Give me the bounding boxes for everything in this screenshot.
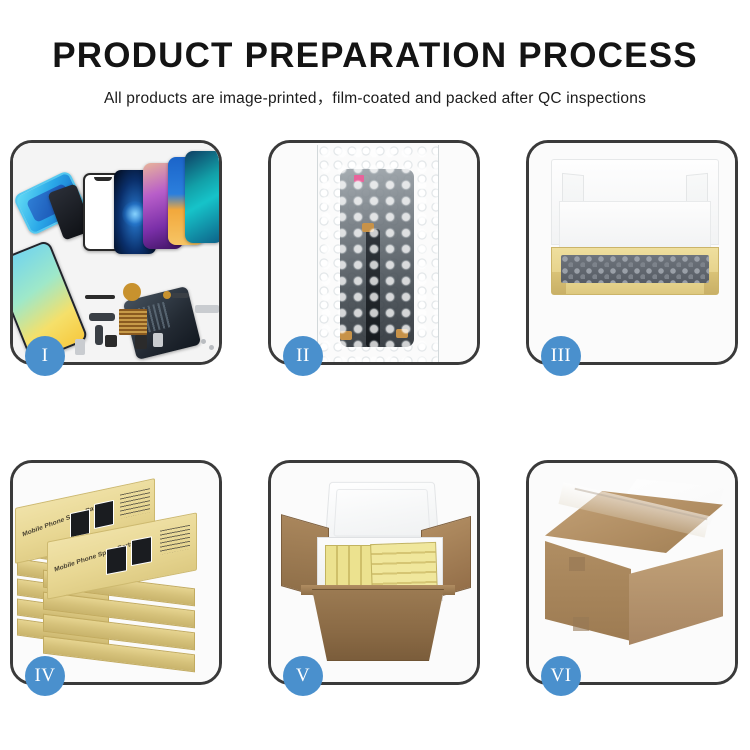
speaker-module-part bbox=[135, 335, 147, 349]
step-badge-3: III bbox=[541, 336, 581, 376]
step-2-image bbox=[271, 143, 477, 362]
box-window-front-2 bbox=[131, 536, 152, 566]
bubble-wrap-bag-image bbox=[317, 145, 439, 362]
bubble-wrap-scene bbox=[271, 143, 477, 362]
ic-chip-grid-part bbox=[119, 309, 147, 335]
screw-part-2 bbox=[209, 345, 214, 350]
sealed-carton-scene bbox=[529, 463, 735, 682]
gold-screw-part bbox=[163, 291, 171, 299]
carton-label-lower bbox=[573, 617, 589, 631]
camera-module-part bbox=[153, 333, 163, 347]
side-flex-cable-part bbox=[89, 313, 115, 321]
page-title: PRODUCT PREPARATION PROCESS bbox=[0, 36, 750, 76]
box-spec-lines-front bbox=[160, 525, 190, 555]
small-chip-part bbox=[105, 335, 117, 347]
step-3-image bbox=[529, 143, 735, 362]
box-window-front-1 bbox=[106, 545, 127, 575]
step-1-image bbox=[13, 143, 219, 362]
screw-part-1 bbox=[201, 339, 206, 344]
process-step-panel-6[interactable]: VI bbox=[526, 460, 738, 685]
carton-label-upper bbox=[569, 557, 585, 571]
sim-tray-part bbox=[75, 339, 85, 355]
process-step-panel-1[interactable]: I bbox=[10, 140, 222, 365]
process-row-1: I bbox=[0, 140, 750, 365]
retail-box-stack-image: Mobile Phone Spare Parts Mobile Phone Sp… bbox=[15, 483, 219, 673]
bubble-texture bbox=[318, 145, 438, 362]
step-badge-5: V bbox=[283, 656, 323, 696]
step-badge-1: I bbox=[25, 336, 65, 376]
connector-flex-part bbox=[95, 325, 103, 345]
earpiece-mesh-part bbox=[85, 295, 115, 299]
phone-parts-scene bbox=[13, 143, 219, 362]
step-6-image bbox=[529, 463, 735, 682]
open-carton-scene bbox=[271, 463, 477, 682]
process-step-panel-2[interactable]: II bbox=[268, 140, 480, 365]
page-subtitle: All products are image-printed，film-coat… bbox=[0, 86, 750, 108]
gray-foam-granules-image bbox=[561, 255, 709, 283]
product-preparation-process-infographic: PRODUCT PREPARATION PROCESS All products… bbox=[0, 0, 750, 750]
carton-side-face bbox=[629, 549, 723, 645]
process-step-panel-4[interactable]: Mobile Phone Spare Parts Mobile Phone Sp… bbox=[10, 460, 222, 685]
tweezers-tool-part bbox=[195, 305, 219, 313]
box-spec-lines-rear bbox=[120, 488, 150, 518]
step-badge-4: IV bbox=[25, 656, 65, 696]
process-row-2: Mobile Phone Spare Parts Mobile Phone Sp… bbox=[0, 460, 750, 685]
vibration-motor-part bbox=[123, 283, 141, 301]
process-step-panel-3[interactable]: III bbox=[526, 140, 738, 365]
process-step-panel-5[interactable]: V bbox=[268, 460, 480, 685]
header: PRODUCT PREPARATION PROCESS All products… bbox=[0, 0, 750, 108]
step-4-image: Mobile Phone Spare Parts Mobile Phone Sp… bbox=[13, 463, 219, 682]
box-window-rear-2 bbox=[94, 500, 114, 529]
power-flex-cable-part bbox=[171, 293, 189, 298]
stacked-boxes-scene: Mobile Phone Spare Parts Mobile Phone Sp… bbox=[13, 463, 219, 682]
teal-gradient-phone-image bbox=[185, 151, 219, 243]
step-badge-6: VI bbox=[541, 656, 581, 696]
step-5-image bbox=[271, 463, 477, 682]
process-step-grid: I bbox=[0, 140, 750, 750]
carton-body-image bbox=[303, 589, 453, 661]
step-badge-2: II bbox=[283, 336, 323, 376]
kraft-tray-scene bbox=[529, 143, 735, 362]
